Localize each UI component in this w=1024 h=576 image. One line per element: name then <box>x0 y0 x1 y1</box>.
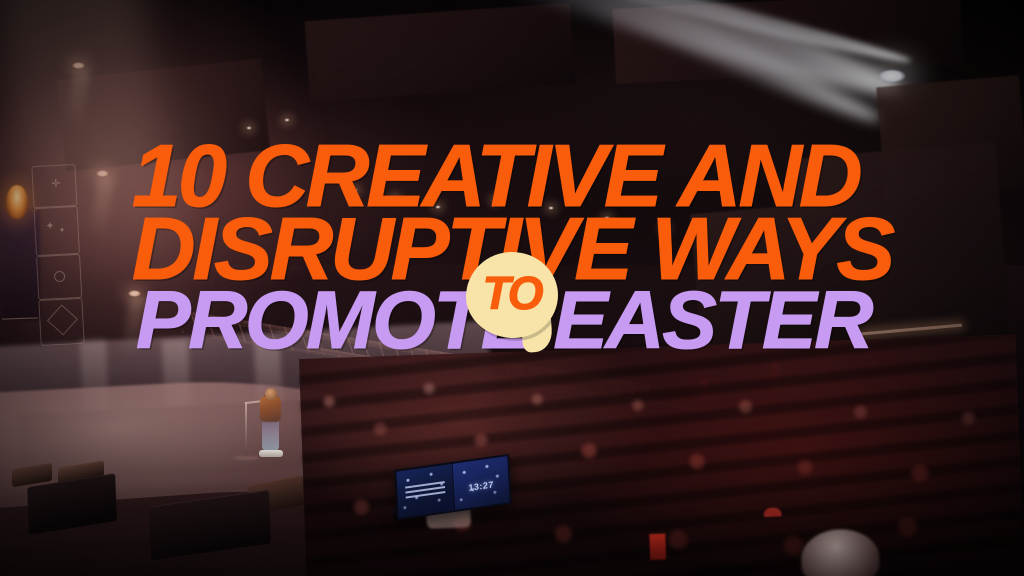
title-card-canvas: ✛ ✦ ✦ <box>0 0 1024 576</box>
venue-photo-background: ✛ ✦ ✦ <box>0 0 1024 576</box>
vignette-overlay <box>0 0 1024 576</box>
